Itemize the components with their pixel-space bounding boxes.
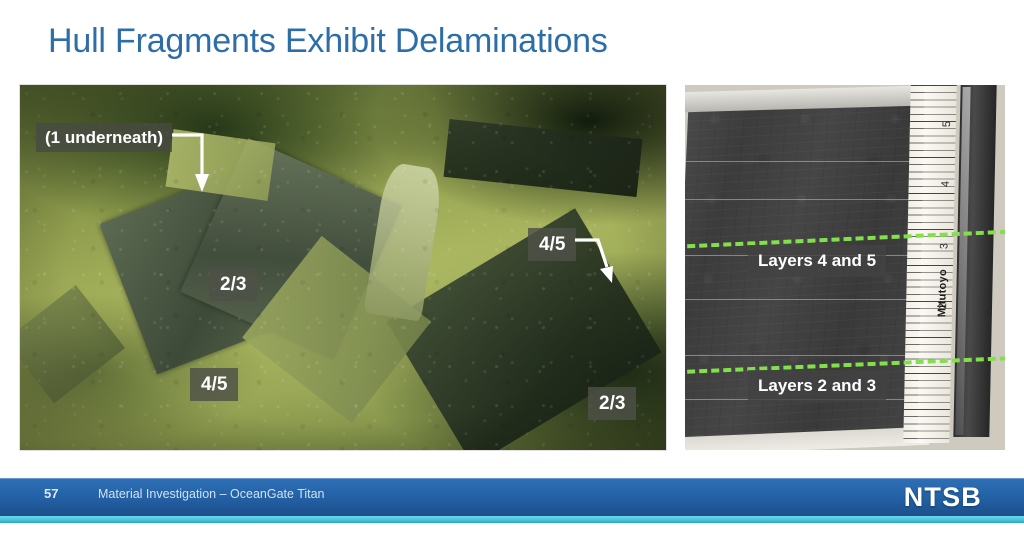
ply-line <box>686 161 918 162</box>
slide-number: 57 <box>44 486 58 501</box>
ply-line <box>685 299 912 300</box>
annotation-underneath: (1 underneath) <box>36 123 172 152</box>
ply-line <box>685 355 909 356</box>
ruler-tick-label-4: 4 <box>940 181 952 187</box>
page-title: Hull Fragments Exhibit Delaminations <box>48 22 608 61</box>
ply-line <box>685 199 916 200</box>
ruler-brand-label: Mitutoyo <box>936 269 949 317</box>
composite-cross-section-photo: 5 4 3 2 Mitutoyo Layers 4 and 5 Layers 2… <box>685 85 1005 450</box>
measuring-ruler: 5 4 3 2 Mitutoyo <box>903 85 956 443</box>
footer-accent-strip <box>0 516 1024 523</box>
annotation-23-top: 2/3 <box>209 268 257 301</box>
annotation-23-right: 2/3 <box>588 387 636 420</box>
layer-label-4-5: Layers 4 and 5 <box>748 245 886 277</box>
footer-underfill <box>0 523 1024 535</box>
ruler-tick-label-3: 3 <box>938 243 950 249</box>
annotation-45-topright: 4/5 <box>528 228 576 261</box>
layer-label-2-3: Layers 2 and 3 <box>748 370 886 402</box>
ruler-tick-label-5: 5 <box>941 121 953 127</box>
footer-subtitle: Material Investigation – OceanGate Titan <box>98 487 325 501</box>
annotation-45-left: 4/5 <box>190 368 238 401</box>
underwater-wreckage-photo: (1 underneath) 2/3 4/5 4/5 2/3 1 <box>20 85 666 450</box>
ruler-ticks <box>903 85 956 443</box>
ntsb-logo: NTSB <box>904 482 982 513</box>
